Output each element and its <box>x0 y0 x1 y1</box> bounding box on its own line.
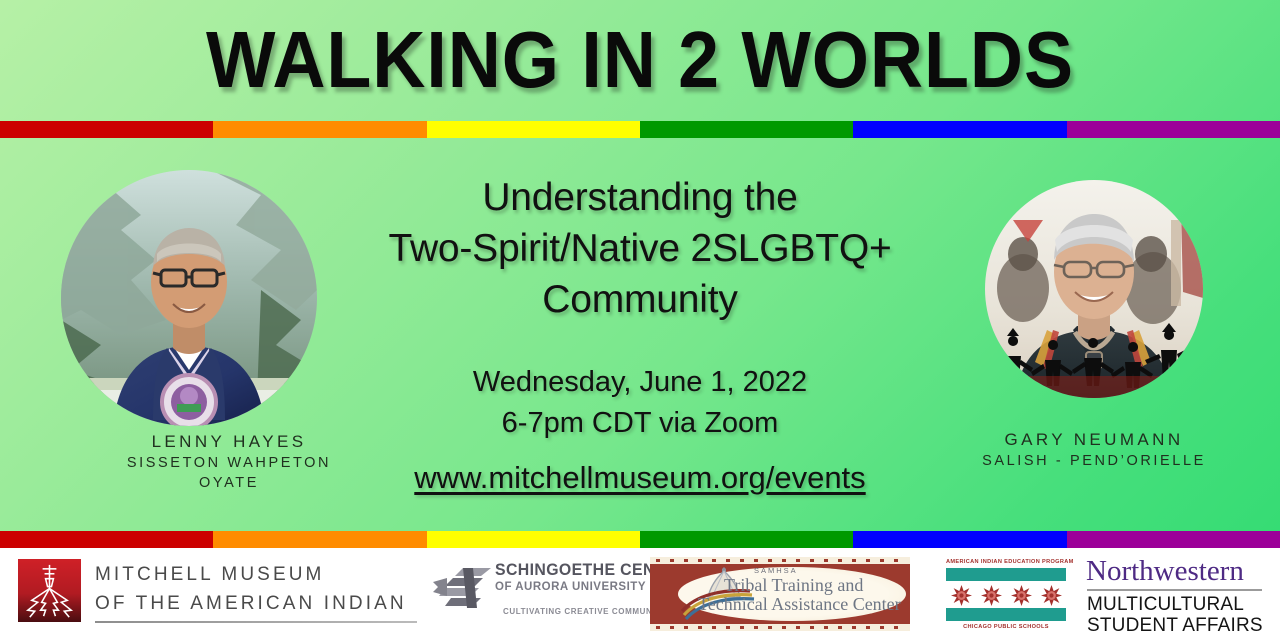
logo-tagline: CULTIVATING CREATIVE COMMUNITY <box>503 605 643 618</box>
headline-line-2: Two-Spirit/Native 2SLGBTQ+ <box>330 223 950 274</box>
rainbow-bar-top <box>0 121 1280 138</box>
banner-border-top <box>650 557 910 564</box>
headline-line-1: Understanding the <box>330 172 950 223</box>
logo-line-2: Technical Assistance Center <box>698 594 901 614</box>
banner-border-bottom <box>650 624 910 631</box>
logo-schingoethe-text: SCHINGOETHE CENTER OF AURORA UNIVERSITY … <box>495 561 643 618</box>
flag-bar-bottom <box>946 608 1066 621</box>
page-title: WALKING IN 2 WORLDS <box>51 18 1229 102</box>
rainbow-bar-bottom <box>0 531 1280 548</box>
headline-line-3: Community <box>330 274 950 325</box>
logo-divider <box>1087 589 1262 591</box>
yellow-band <box>427 121 640 138</box>
department-line-2: STUDENT AFFAIRS <box>1087 615 1263 636</box>
flag-stars <box>946 584 1066 606</box>
ttac-banner: SAMHSA Tribal Training and Technical Ass… <box>650 557 910 631</box>
logo-northwestern: Northwestern MULTICULTURAL STUDENT AFFAI… <box>1086 548 1268 640</box>
green-band <box>640 531 853 548</box>
event-time: 6-7pm CDT via Zoom <box>350 403 930 444</box>
logo-line-2: OF THE AMERICAN INDIAN <box>95 589 420 618</box>
red-band <box>0 531 213 548</box>
logo-line-1: SCHINGOETHE CENTER <box>495 561 637 580</box>
feather-arrow-icon <box>433 566 495 610</box>
event-datetime: Wednesday, June 1, 2022 6-7pm CDT via Zo… <box>350 362 930 444</box>
sponsor-logo-strip: MITCHELL MUSEUM OF THE AMERICAN INDIAN S… <box>0 548 1280 640</box>
logo-line-1: Tribal Training and <box>724 575 863 595</box>
orange-band <box>213 531 426 548</box>
star-medallion-icon <box>981 585 1002 606</box>
blue-band <box>853 531 1066 548</box>
headline: Understanding the Two-Spirit/Native 2SLG… <box>330 172 950 325</box>
green-band <box>640 121 853 138</box>
speaker-photo-lenny-hayes <box>61 170 317 426</box>
logo-line-2: OF AURORA UNIVERSITY <box>495 580 643 595</box>
event-url-link[interactable]: www.mitchellmuseum.org/events <box>330 458 950 498</box>
speaker-affiliation-line1: SALISH - PEND’ORIELLE <box>944 451 1244 471</box>
orange-band <box>213 121 426 138</box>
yellow-band <box>427 531 640 548</box>
speaker-photo-gary-neumann <box>985 180 1203 398</box>
star-medallion-icon <box>1011 585 1032 606</box>
department-line-1: MULTICULTURAL <box>1087 594 1244 615</box>
logo-line-1: MITCHELL MUSEUM <box>95 560 420 589</box>
event-date: Wednesday, June 1, 2022 <box>350 362 930 403</box>
flag-bar-top <box>946 568 1066 581</box>
logo-chicago-public-schools-aiep: AMERICAN INDIAN EDUCATION PROGRAM <box>940 548 1072 640</box>
star-medallion-icon <box>1041 585 1062 606</box>
logo-schingoethe-center: SCHINGOETHE CENTER OF AURORA UNIVERSITY … <box>432 548 642 640</box>
logo-mitchell-museum: MITCHELL MUSEUM OF THE AMERICAN INDIAN <box>12 548 427 640</box>
logo-divider <box>95 621 417 623</box>
purple-band <box>1067 531 1280 548</box>
speaker-caption-gary-neumann: GARY NEUMANN SALISH - PEND’ORIELLE <box>944 428 1244 471</box>
program-name: AMERICAN INDIAN EDUCATION PROGRAM <box>946 559 1066 565</box>
red-band <box>0 121 213 138</box>
thunderbird-icon <box>18 559 81 622</box>
blue-band <box>853 121 1066 138</box>
purple-band <box>1067 121 1280 138</box>
event-flyer: WALKING IN 2 WORLDS <box>0 0 1280 640</box>
logo-mitchell-text: MITCHELL MUSEUM OF THE AMERICAN INDIAN <box>95 560 420 618</box>
agency-name: SAMHSA <box>754 566 798 575</box>
logo-samhsa-ttac: SAMHSA Tribal Training and Technical Ass… <box>650 548 932 640</box>
district-name: CHICAGO PUBLIC SCHOOLS <box>946 624 1066 630</box>
speaker-name: GARY NEUMANN <box>944 428 1244 451</box>
star-medallion-icon <box>951 585 972 606</box>
university-name: Northwestern <box>1086 555 1244 587</box>
